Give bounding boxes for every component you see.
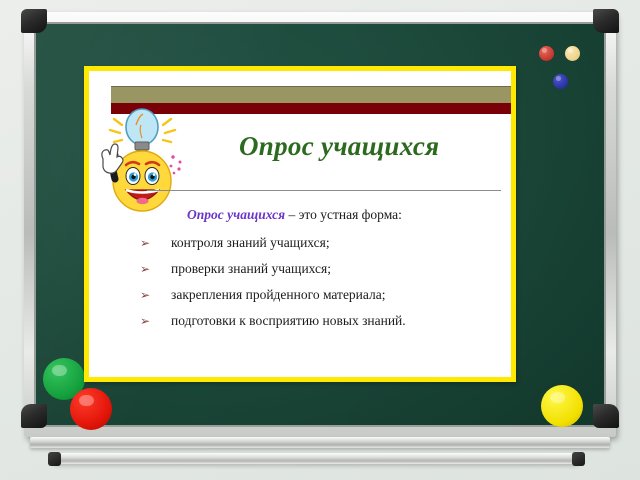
corner-cap-top-right (593, 9, 619, 33)
magnet-yellow-large[interactable] (541, 385, 583, 427)
corner-cap-top-left (21, 9, 47, 33)
intro-term: Опрос учащихся (187, 207, 285, 222)
bullet-list: ➢ контроля знаний учащихся; ➢ проверки з… (137, 235, 499, 330)
corner-cap-bottom-left (21, 404, 47, 428)
presentation-slide[interactable]: Опрос учащихся Опрос учащихся – это устн… (84, 66, 516, 382)
corner-cap-bottom-right (593, 404, 619, 428)
magnet-cream-small[interactable] (565, 46, 580, 61)
slide-canvas: Опрос учащихся Опрос учащихся – это устн… (89, 71, 511, 377)
list-item-label: контроля знаний учащихся; (171, 235, 330, 251)
list-item: ➢ проверки знаний учащихся; (137, 261, 499, 277)
list-item-label: закрепления пройденного материала; (171, 287, 386, 303)
list-item-label: подготовки к восприятию новых знаний. (171, 313, 406, 329)
tray-endcap-left (48, 452, 61, 466)
slide-body: Опрос учащихся – это устная форма: ➢ кон… (137, 207, 499, 340)
magnet-blue-small[interactable] (553, 74, 568, 89)
title-divider-rule (147, 190, 501, 191)
chevron-bullet-icon: ➢ (137, 236, 171, 250)
tray-upper-rail (30, 437, 610, 448)
list-item: ➢ закрепления пройденного материала; (137, 287, 499, 303)
magnet-red-small[interactable] (539, 46, 554, 61)
chevron-bullet-icon: ➢ (137, 288, 171, 302)
marker-tray (54, 453, 579, 464)
magnet-red-large[interactable] (70, 388, 112, 430)
list-item: ➢ подготовки к восприятию новых знаний. (137, 313, 499, 329)
intro-rest: – это устная форма: (285, 207, 402, 222)
smiley-with-lightbulb-icon (95, 95, 191, 215)
list-item-label: проверки знаний учащихся; (171, 261, 331, 277)
intro-line: Опрос учащихся – это устная форма: (187, 207, 499, 224)
list-item: ➢ контроля знаний учащихся; (137, 235, 499, 251)
chevron-bullet-icon: ➢ (137, 314, 171, 328)
chevron-bullet-icon: ➢ (137, 262, 171, 276)
slide-title: Опрос учащихся (239, 131, 497, 162)
tray-endcap-right (572, 452, 585, 466)
